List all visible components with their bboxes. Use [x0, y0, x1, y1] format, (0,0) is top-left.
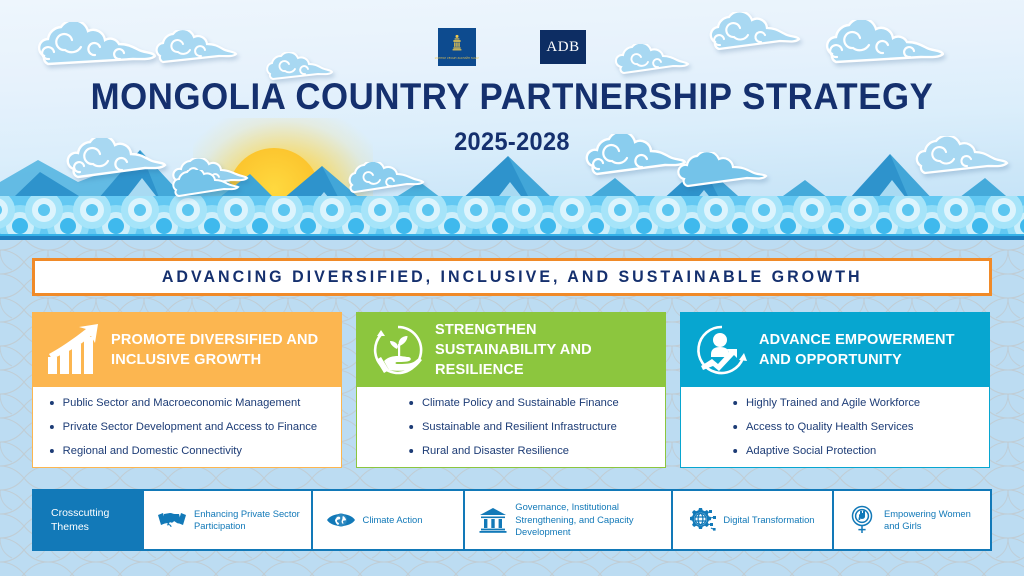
wave-band	[0, 196, 1024, 238]
pillar-card-body: Highly Trained and Agile Workforce Acces…	[680, 387, 990, 468]
pillar-card-title: STRENGTHEN SUSTAINABILITY AND RESILIENCE	[435, 320, 651, 379]
hand-holding-plant-icon	[370, 322, 426, 378]
list-item: Rural and Disaster Resilience	[371, 444, 649, 459]
title-block: MONGOLIA COUNTRY PARTNERSHIP STRATEGY 20…	[0, 78, 1024, 157]
pillar-card-body: Public Sector and Macroeconomic Manageme…	[32, 387, 342, 468]
list-item: Regional and Domestic Connectivity	[47, 444, 325, 459]
theme-digital-transformation[interactable]: Digital Transformation	[673, 491, 832, 549]
theme-label: Empowering Women and Girls	[884, 508, 984, 533]
list-item: Access to Quality Health Services	[695, 420, 973, 435]
cloud-icon	[672, 152, 790, 194]
pillar-card-header: STRENGTHEN SUSTAINABILITY AND RESILIENCE	[356, 312, 666, 387]
page-title: MONGOLIA COUNTRY PARTNERSHIP STRATEGY	[31, 78, 994, 115]
mongolia-government-emblem: МОНГОЛ УЛСЫН ЗАСГИЙН ГАЗАР	[438, 28, 476, 66]
emblem-caption: МОНГОЛ УЛСЫН ЗАСГИЙН ГАЗАР	[435, 57, 479, 60]
cloud-icon	[342, 162, 430, 198]
adb-logo: ADB	[540, 30, 586, 64]
infographic-poster: МОНГОЛ УЛСЫН ЗАСГИЙН ГАЗАР ADB MONGOLIA …	[0, 0, 1024, 576]
pillar-item-list: Public Sector and Macroeconomic Manageme…	[47, 396, 331, 459]
pillar-item-list: Climate Policy and Sustainable Finance S…	[371, 396, 655, 459]
list-item: Public Sector and Macroeconomic Manageme…	[47, 396, 325, 411]
theme-label: Digital Transformation	[723, 514, 814, 527]
theme-private-sector[interactable]: Enhancing Private Sector Participation	[144, 491, 311, 549]
eye-globe-icon	[326, 505, 356, 535]
bar-chart-growth-arrow-icon	[46, 322, 102, 378]
pillar-cards: PROMOTE DIVERSIFIED AND INCLUSIVE GROWTH…	[32, 312, 992, 468]
handshake-icon	[157, 505, 187, 535]
list-item: Sustainable and Resilient Infrastructure	[371, 420, 649, 435]
strategy-period: 2025-2028	[31, 128, 994, 157]
pillar-card-header: PROMOTE DIVERSIFIED AND INCLUSIVE GROWTH	[32, 312, 342, 387]
pillar-card-body: Climate Policy and Sustainable Finance S…	[356, 387, 666, 468]
theme-climate-action[interactable]: Climate Action	[313, 491, 464, 549]
hero-divider	[0, 236, 1024, 240]
person-rising-arrow-icon	[694, 322, 750, 378]
pillar-card-empowerment[interactable]: ADVANCE EMPOWERMENT AND OPPORTUNITY High…	[680, 312, 990, 468]
pillar-card-sustainability[interactable]: STRENGTHEN SUSTAINABILITY AND RESILIENCE…	[356, 312, 666, 468]
theme-empowering-women[interactable]: Empowering Women and Girls	[834, 491, 990, 549]
hero-illustration: МОНГОЛ УЛСЫН ЗАСГИЙН ГАЗАР ADB MONGOLIA …	[0, 0, 1024, 238]
pillar-item-list: Highly Trained and Agile Workforce Acces…	[695, 396, 979, 459]
list-item: Highly Trained and Agile Workforce	[695, 396, 973, 411]
theme-label: Climate Action	[363, 514, 423, 527]
banner-text: ADVANCING DIVERSIFIED, INCLUSIVE, AND SU…	[162, 268, 863, 287]
logo-row: МОНГОЛ УЛСЫН ЗАСГИЙН ГАЗАР ADB	[0, 26, 1024, 68]
pillar-card-header: ADVANCE EMPOWERMENT AND OPPORTUNITY	[680, 312, 990, 387]
crosscutting-themes-label: Crosscutting Themes	[34, 491, 142, 549]
pillar-card-promote-growth[interactable]: PROMOTE DIVERSIFIED AND INCLUSIVE GROWTH…	[32, 312, 342, 468]
soyombo-icon	[450, 34, 464, 56]
pillar-card-title: ADVANCE EMPOWERMENT AND OPPORTUNITY	[759, 330, 975, 370]
theme-governance[interactable]: Governance, Institutional Strengthening,…	[465, 491, 671, 549]
institution-bank-icon	[478, 505, 508, 535]
cloud-icon	[168, 170, 242, 202]
pillar-card-title: PROMOTE DIVERSIFIED AND INCLUSIVE GROWTH	[111, 330, 327, 370]
theme-label: Governance, Institutional Strengthening,…	[515, 501, 665, 539]
list-item: Climate Policy and Sustainable Finance	[371, 396, 649, 411]
gear-globe-network-icon	[686, 505, 716, 535]
list-item: Private Sector Development and Access to…	[47, 420, 325, 435]
theme-label: Enhancing Private Sector Participation	[194, 508, 305, 533]
list-item: Adaptive Social Protection	[695, 444, 973, 459]
crosscutting-themes-bar: Crosscutting Themes Enhancing Private Se…	[32, 489, 992, 551]
main-banner: ADVANCING DIVERSIFIED, INCLUSIVE, AND SU…	[32, 258, 992, 296]
women-empowerment-icon	[847, 505, 877, 535]
